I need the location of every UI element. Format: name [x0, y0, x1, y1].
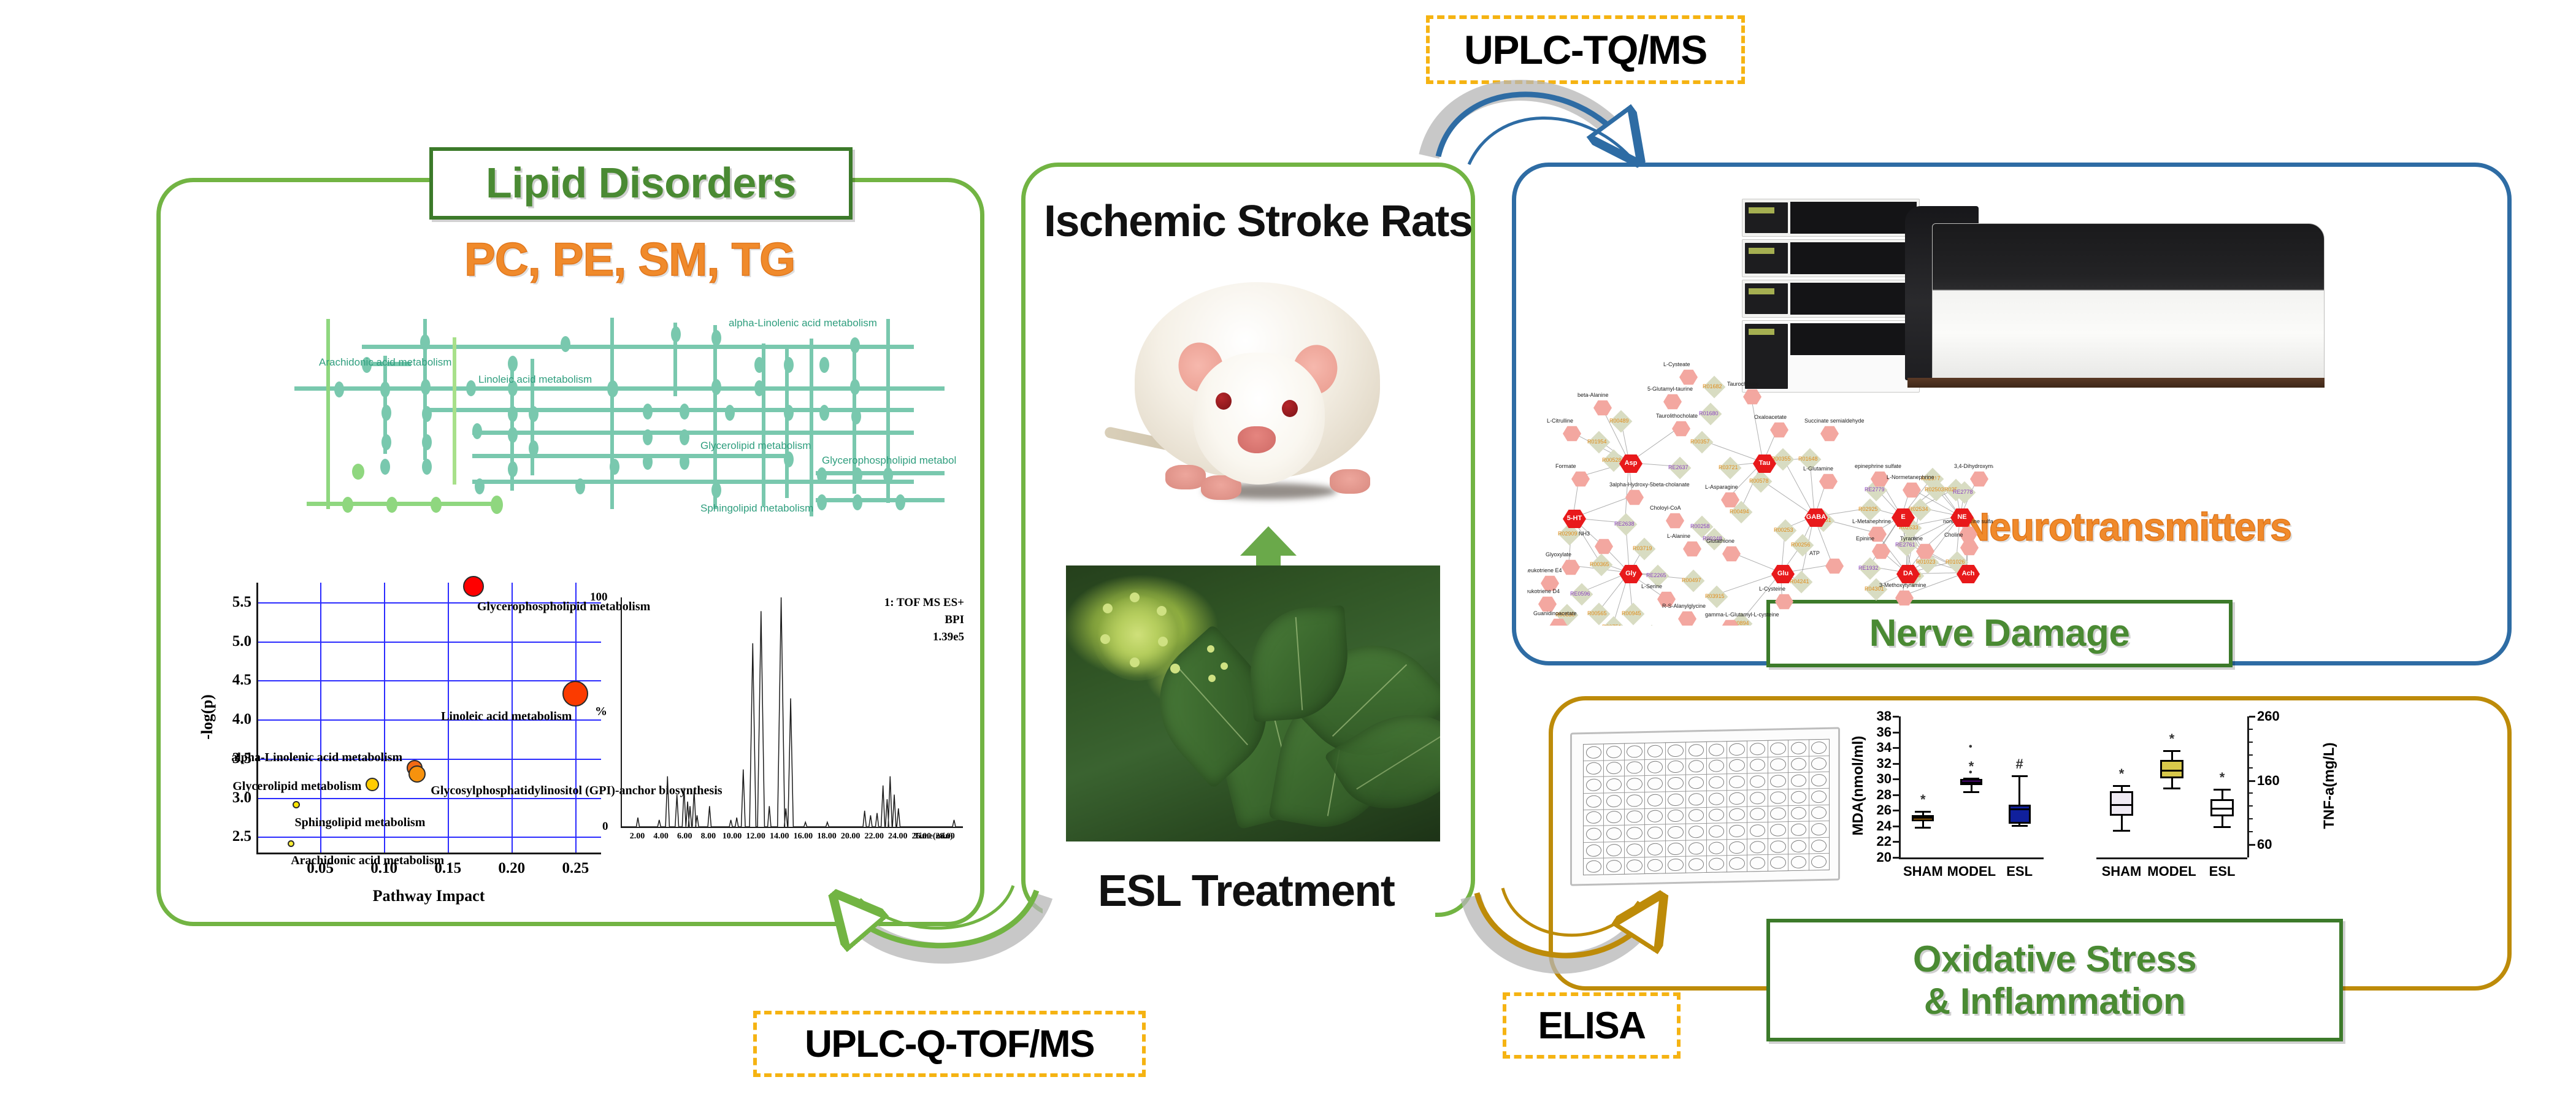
- plate-well: [1747, 822, 1767, 838]
- plate-well-circle: [1586, 779, 1601, 792]
- plate-well: [1788, 805, 1808, 821]
- network-metabolite-label: Choloyl-CoA: [1650, 505, 1681, 511]
- plate-well: [1788, 740, 1808, 756]
- plate-well: [1727, 757, 1747, 773]
- network-metabolite-label: Succinate semialdehyde: [1804, 418, 1865, 424]
- plate-well-circle: [1750, 808, 1765, 821]
- y-minor-tick: [2249, 831, 2253, 832]
- plate-well-circle: [1750, 824, 1765, 837]
- plate-well: [1747, 773, 1767, 789]
- kegg-label-glycerolipid: Glycerolipid metabolism: [700, 440, 811, 452]
- plate-well: [1809, 838, 1829, 854]
- kegg-pathway-map: Arachidonic acid metabolism Linoleic aci…: [288, 301, 957, 534]
- scatter-point: [463, 576, 484, 597]
- y-tick-mark: [2249, 780, 2255, 782]
- plate-well: [1768, 838, 1788, 854]
- plate-well-circle: [1586, 811, 1601, 824]
- plate-well-circle: [1647, 843, 1663, 856]
- plate-well: [1768, 855, 1788, 871]
- network-metabolite-node: [1825, 558, 1844, 574]
- plate-well: [1645, 743, 1665, 759]
- network-reaction-label: R03721: [1719, 464, 1738, 470]
- chromatogram-annotation: 1: TOF MS ES+: [884, 596, 964, 610]
- network-metabolite-label: Epinine: [1856, 535, 1874, 542]
- plate-well-circle: [1811, 742, 1827, 754]
- plate-well-circle: [1729, 857, 1744, 870]
- y-tick-mark: [1893, 747, 1899, 749]
- plate-well-circle: [1791, 840, 1806, 853]
- y-tick-label: 260: [2257, 708, 2301, 724]
- network-reaction-label: R00357: [1690, 439, 1710, 445]
- network-hub-label: 5-HT: [1563, 515, 1586, 522]
- network-hub-label: Asp: [1619, 459, 1643, 467]
- plate-well: [1809, 805, 1829, 821]
- plate-well: [1625, 760, 1644, 776]
- plate-well: [1707, 758, 1727, 774]
- boxplot-whisker-upper: [2018, 776, 2020, 805]
- plate-well-circle: [1770, 824, 1785, 837]
- plate-well-circle: [1770, 759, 1785, 772]
- kegg-label-glycerophospholipid: Glycerophospholipid metabolism: [822, 455, 957, 467]
- plate-well-circle: [1606, 843, 1622, 856]
- x-tick-label: 16.00: [789, 832, 816, 841]
- plate-well-circle: [1586, 762, 1601, 775]
- y-tick-mark: [1893, 778, 1899, 780]
- network-metabolite-label: Taurolithocholate: [1656, 413, 1698, 419]
- plate-well-circle: [1791, 856, 1806, 869]
- plate-well: [1645, 792, 1665, 808]
- network-reaction-label: R00258: [1690, 523, 1710, 529]
- plate-well-circle: [1770, 808, 1785, 821]
- boxplot-median: [1960, 781, 1982, 783]
- plate-well-circle: [1689, 842, 1704, 855]
- kegg-label-linoleic: Linoleic acid metabolism: [478, 374, 592, 386]
- boxplot-median: [2110, 804, 2133, 806]
- network-metabolite-node: [1593, 400, 1612, 416]
- grid-line-horizontal: [256, 642, 601, 643]
- plate-well-circle: [1606, 746, 1622, 759]
- plate-well: [1768, 806, 1788, 822]
- plate-well-circle: [1647, 778, 1663, 791]
- plate-well-circle: [1750, 759, 1765, 772]
- plate-well-circle: [1770, 742, 1785, 755]
- network-metabolite-label: L-Citrulline: [1547, 418, 1573, 424]
- plate-well-circle: [1689, 826, 1704, 838]
- plate-well: [1686, 840, 1706, 856]
- network-hub-label: GABA: [1804, 513, 1828, 521]
- x-tick-label: 24.00: [884, 832, 911, 841]
- network-reaction-label: R02503: [1925, 486, 1944, 493]
- boxplot-cap-lower: [2163, 788, 2180, 789]
- network-reaction-label: R00528: [1602, 457, 1622, 463]
- network-metabolite-label: Glyoxylate: [1546, 551, 1571, 558]
- plate-well: [1809, 772, 1829, 788]
- network-metabolite-node: [1819, 473, 1838, 489]
- y-axis-title: %: [595, 705, 607, 719]
- plate-well-circle: [1729, 743, 1744, 756]
- plate-well-circle: [1729, 792, 1744, 805]
- plate-well: [1788, 789, 1808, 805]
- network-metabolite-label: L-Cysteate: [1663, 362, 1690, 367]
- y-tick-mark: [1893, 826, 1899, 827]
- y-tick-label: 2.5: [221, 828, 251, 845]
- x-axis-title: Pathway Impact: [370, 887, 487, 905]
- y-axis-title: -log(p): [198, 668, 217, 766]
- y-tick-label: 4.0: [221, 711, 251, 728]
- plate-well-circle: [1791, 807, 1806, 820]
- arrow-to-lipid-panel: [846, 886, 1043, 953]
- y-tick-label: 5.0: [221, 633, 251, 650]
- y-minor-tick: [2249, 818, 2253, 819]
- plate-well: [1645, 824, 1665, 840]
- plate-well: [1788, 756, 1808, 772]
- y-axis: [1899, 716, 1901, 857]
- network-reaction-label: R01954: [1587, 439, 1607, 445]
- plate-well: [1727, 807, 1747, 822]
- x-tick-label: 0.20: [488, 860, 535, 877]
- chromatogram-annotation: BPI: [945, 613, 964, 627]
- y-axis-title: TNF-a(mg/L): [2321, 724, 2338, 847]
- y-axis: [2247, 716, 2249, 857]
- plate-well: [1625, 825, 1644, 841]
- plate-well: [1809, 854, 1829, 870]
- network-metabolite-label: L-Glutamine: [1803, 466, 1833, 472]
- network-metabolite-node: [1663, 394, 1682, 410]
- boxplot-median: [2009, 808, 2031, 810]
- network-reaction-label: R00489: [1609, 418, 1629, 424]
- y-tick-mark: [1893, 794, 1899, 796]
- boxplot-cap-lower: [2113, 830, 2129, 832]
- network-hub-label: Ach: [1957, 570, 1980, 577]
- plate-well-circle: [1791, 775, 1806, 788]
- plate-well: [1604, 793, 1623, 809]
- network-metabolite-label: Guanidinoacetate: [1533, 610, 1577, 616]
- plate-well-circle: [1729, 808, 1744, 821]
- y-tick-mark: [2249, 844, 2255, 846]
- network-metabolite-label: L-Metanephrine: [1852, 518, 1891, 524]
- scatter-point-label: Glycerolipid metabolism: [232, 780, 361, 794]
- network-reaction-label: RE2265: [1646, 572, 1666, 578]
- elisa-96-well-plate: [1570, 727, 1840, 886]
- plate-well-circle: [1709, 858, 1724, 871]
- plate-well: [1686, 856, 1706, 872]
- plate-well: [1747, 839, 1767, 855]
- network-reaction-label: R00253: [1774, 527, 1793, 533]
- boxplot-median: [2210, 808, 2234, 810]
- boxplot-whisker-lower: [2171, 778, 2173, 788]
- plate-well-circle: [1627, 827, 1642, 840]
- network-metabolite-node: [1679, 369, 1698, 385]
- y-tick-label: 4.5: [221, 672, 251, 689]
- network-metabolite-node: [1770, 422, 1788, 438]
- boxplot-cap-lower: [1915, 827, 1931, 829]
- plate-well-circle: [1606, 811, 1622, 824]
- network-reaction-label: R03719: [1633, 545, 1652, 551]
- network-metabolite-label: Leukotriene D4: [1527, 588, 1560, 594]
- plate-well-circle: [1791, 742, 1806, 754]
- plate-well: [1809, 756, 1829, 772]
- y-tick-label: 38: [1847, 708, 1892, 724]
- boxplot-cap-lower: [2012, 825, 2028, 827]
- graphical-abstract: Lipid Disorders Nerve Damage Oxidative S…: [0, 0, 2576, 1104]
- boxplot-cap-lower: [2214, 826, 2230, 828]
- plate-well: [1809, 821, 1829, 837]
- plate-well-circle: [1668, 859, 1683, 872]
- network-metabolite-label: ATP: [1809, 550, 1820, 556]
- chart-mda-boxplot: 20222426283032343638MDA(nmol/ml)*SHAM••*…: [1840, 705, 2055, 889]
- plate-well: [1666, 743, 1685, 759]
- y-minor-tick: [2249, 729, 2253, 730]
- network-hub-label: DA: [1896, 570, 1920, 577]
- network-reaction-label: R00256: [1791, 542, 1811, 548]
- boxplot-cap-upper: [2012, 775, 2028, 777]
- boxplot-category-label: MODEL: [1947, 864, 1996, 880]
- plate-well-circle: [1729, 825, 1744, 838]
- network-hub-label: NE: [1950, 513, 1974, 521]
- plate-well: [1645, 841, 1665, 857]
- y-minor-tick: [2249, 805, 2253, 807]
- network-metabolite-node: [1678, 611, 1696, 626]
- network-metabolite-label: Tyramine: [1900, 535, 1923, 542]
- plate-well: [1666, 792, 1685, 808]
- network-reaction-label: R00497: [1682, 577, 1701, 583]
- network-metabolite-label: gamma-L-Glutamyl-L-cysteine: [1705, 611, 1779, 618]
- plate-well: [1625, 841, 1644, 857]
- network-reaction-label: R01680: [1699, 410, 1719, 416]
- x-tick-label: 18.00: [813, 832, 840, 841]
- boxplot-whisker-upper: [2171, 751, 2173, 760]
- plate-well: [1727, 823, 1747, 839]
- network-reaction-label: R01023: [1916, 559, 1936, 565]
- plate-well-circle: [1811, 807, 1827, 819]
- plate-well: [1727, 774, 1747, 790]
- scatter-point: [408, 765, 426, 783]
- plate-well: [1625, 776, 1644, 792]
- network-reaction-label: R00494: [1730, 508, 1749, 515]
- plate-well-circle: [1606, 762, 1622, 775]
- network-hub-label: Tau: [1753, 459, 1776, 467]
- plate-well: [1707, 856, 1727, 872]
- network-metabolite-label: R-S-Alanylglycine: [1662, 603, 1706, 609]
- y-tick-mark: [1893, 810, 1899, 811]
- scatter-point: [366, 778, 379, 791]
- plate-well-circle: [1770, 840, 1785, 853]
- boxplot-outlier: •: [1969, 742, 1972, 753]
- network-metabolite-label: epinephrine sulfate: [1855, 463, 1901, 469]
- network-metabolite-label: 5-Glutamyl-taurine: [1647, 386, 1693, 392]
- network-reaction-label: R00365: [1590, 561, 1609, 567]
- y-minor-tick: [2249, 792, 2253, 794]
- y-tick-mark: [1893, 857, 1899, 859]
- plate-well-circle: [1709, 809, 1724, 822]
- plate-well-circle: [1627, 762, 1642, 775]
- plate-well: [1584, 761, 1603, 776]
- plate-well-circle: [1729, 759, 1744, 772]
- network-reaction-label: R02909: [1558, 531, 1577, 537]
- plate-well-circle: [1770, 791, 1785, 804]
- y-tick-label: 5.5: [221, 594, 251, 611]
- y-axis-title: MDA(nmol/ml): [1850, 724, 1867, 847]
- plate-well: [1707, 775, 1727, 791]
- plate-well-circle: [1811, 791, 1827, 803]
- plate-well: [1584, 744, 1603, 760]
- plate-well-circle: [1668, 777, 1683, 790]
- plate-well: [1584, 842, 1603, 858]
- y-tick-label: 160: [2257, 773, 2301, 789]
- chart-bpi-chromatogram: 1000%2.004.006.008.0010.0012.0014.0016.0…: [589, 577, 969, 871]
- plate-well: [1747, 855, 1767, 871]
- plate-well-circle: [1668, 842, 1683, 855]
- boxplot-whisker-lower: [2221, 816, 2223, 827]
- y-tick-label: 20: [1847, 849, 1892, 865]
- plate-well-circle: [1791, 823, 1806, 836]
- network-metabolite-node: [1666, 513, 1684, 529]
- plate-well: [1666, 808, 1685, 824]
- plate-well-circle: [1689, 858, 1704, 871]
- plate-well: [1625, 809, 1644, 825]
- plate-well: [1686, 759, 1706, 775]
- boxplot-significance-mark: #: [2015, 756, 2025, 772]
- network-metabolite-label: L-Cysteine: [1759, 586, 1785, 592]
- metabolic-network-diagram: R01682R00489R01954R00357R00528R03721R003…: [1527, 362, 1993, 626]
- plate-well-circle: [1750, 775, 1765, 788]
- plate-well-circle: [1709, 743, 1724, 756]
- plate-well-circle: [1668, 793, 1683, 806]
- chart-tnf-boxplot: 60160260TNF-a(mg/L)*SHAM*MODEL*ESL: [2085, 705, 2306, 889]
- boxplot-cap-upper: [2214, 789, 2230, 791]
- y-tick-label: 60: [2257, 837, 2301, 853]
- plate-well-circle: [1586, 795, 1601, 808]
- plate-well-circle: [1709, 825, 1724, 838]
- plate-well: [1604, 776, 1623, 792]
- plate-well: [1604, 858, 1623, 874]
- plate-well: [1584, 826, 1603, 842]
- plate-well: [1584, 810, 1603, 826]
- plate-well-circle: [1729, 841, 1744, 854]
- plate-well: [1707, 823, 1727, 839]
- x-axis: [1899, 857, 2044, 859]
- network-reaction-label: RE2638: [1614, 521, 1635, 527]
- plate-well-circle: [1668, 826, 1683, 839]
- y-axis: [256, 583, 258, 853]
- plate-well: [1747, 806, 1767, 822]
- scatter-point: [562, 681, 588, 707]
- network-hub-label: E: [1892, 513, 1915, 521]
- network-metabolite-node: [1683, 541, 1701, 557]
- plate-well-circle: [1770, 775, 1785, 788]
- plate-well: [1727, 856, 1747, 872]
- grid-line-horizontal: [256, 680, 601, 681]
- y-tick-mark: [2249, 716, 2255, 718]
- plate-well-circle: [1606, 778, 1622, 791]
- plate-well: [1645, 857, 1665, 873]
- plate-well: [1666, 759, 1685, 775]
- network-edge: [1750, 395, 1763, 462]
- y-minor-tick: [2249, 754, 2253, 756]
- plate-well: [1625, 857, 1644, 873]
- x-tick-label: 22.00: [861, 832, 887, 841]
- network-metabolite-label: L-Arginine: [1570, 625, 1595, 626]
- network-reaction-label: R02534: [1909, 506, 1928, 512]
- network-metabolite-label: beta-Alanine: [1577, 392, 1609, 398]
- plate-well: [1686, 807, 1706, 823]
- scatter-point-label: Sphingolipid metabolism: [295, 816, 426, 830]
- plate-well-circle: [1791, 758, 1806, 771]
- network-reaction-label: R01648: [1798, 456, 1818, 462]
- network-metabolite-label: L-Serine: [1641, 583, 1662, 589]
- plate-well: [1788, 822, 1808, 838]
- plate-well: [1686, 775, 1706, 791]
- network-reaction-label: RE2761: [1895, 542, 1915, 548]
- plate-well: [1625, 792, 1644, 808]
- network-metabolite-label: Oxaloacetate: [1754, 414, 1787, 420]
- x-tick-label: 14.00: [766, 832, 793, 841]
- boxplot-significance-mark: *: [2117, 766, 2126, 782]
- plate-well-circle: [1627, 859, 1642, 872]
- boxplot-category-label: ESL: [1995, 864, 2044, 880]
- boxplot-significance-mark: *: [1966, 759, 1976, 775]
- x-tick-label: 12.00: [742, 832, 769, 841]
- boxplot-cap-upper: [1915, 811, 1931, 813]
- network-metabolite-label: Glutathione: [1706, 538, 1735, 544]
- plate-well: [1604, 826, 1623, 841]
- x-tick-label: 8.00: [695, 832, 722, 841]
- plate-well: [1747, 741, 1767, 757]
- plate-well: [1747, 757, 1767, 773]
- plate-well: [1625, 743, 1644, 759]
- y-tick-label-100: 100: [590, 591, 608, 604]
- plate-well: [1604, 842, 1623, 858]
- network-hub-label: Glu: [1771, 570, 1795, 577]
- plate-well-circle: [1709, 776, 1724, 789]
- plate-well: [1707, 742, 1727, 757]
- network-metabolite-label: NH3: [1579, 531, 1590, 537]
- network-metabolite-node: [1722, 546, 1741, 562]
- plate-well-circle: [1689, 744, 1704, 757]
- plate-well-circle: [1709, 792, 1724, 805]
- x-tick-label: 20.00: [837, 832, 864, 841]
- boxplot-median: [2160, 770, 2183, 772]
- plate-well: [1768, 757, 1788, 773]
- boxplot-significance-mark: *: [2217, 770, 2227, 786]
- boxplot-whisker-lower: [2121, 816, 2123, 830]
- network-reaction-label: R00945: [1622, 610, 1641, 616]
- network-reaction-label: RE2778: [1953, 489, 1973, 495]
- x-tick-label: 2.00: [624, 832, 651, 841]
- network-reaction-label: RE0596: [1570, 591, 1590, 597]
- chart-pathway-impact: 2.53.03.54.04.55.05.50.050.100.150.200.2…: [184, 546, 619, 908]
- boxplot-cap-upper: [2163, 750, 2180, 752]
- network-metabolite-node: [1820, 426, 1839, 442]
- plate-well-circle: [1689, 776, 1704, 789]
- boxplot-cap-upper: [2113, 785, 2129, 787]
- plate-well: [1768, 789, 1788, 805]
- plate-well: [1666, 775, 1685, 791]
- plate-well-circle: [1668, 810, 1683, 822]
- plate-well: [1584, 793, 1603, 809]
- network-reaction-label: RE1932: [1858, 565, 1879, 571]
- network-metabolite-node: [1625, 489, 1644, 505]
- plate-well-circle: [1647, 745, 1663, 757]
- plate-well-circle: [1689, 793, 1704, 806]
- grid-line-vertical: [384, 583, 385, 853]
- plate-well: [1686, 742, 1706, 758]
- network-metabolite-label: 3alpha-Hydroxy-5beta-cholanate: [1609, 481, 1690, 488]
- plate-well: [1727, 790, 1747, 806]
- scatter-point-label: alpha-Linolenic acid metabolism: [231, 751, 402, 765]
- network-reaction-node: [1641, 625, 1663, 626]
- network-reaction-label: R00751: [1602, 624, 1622, 626]
